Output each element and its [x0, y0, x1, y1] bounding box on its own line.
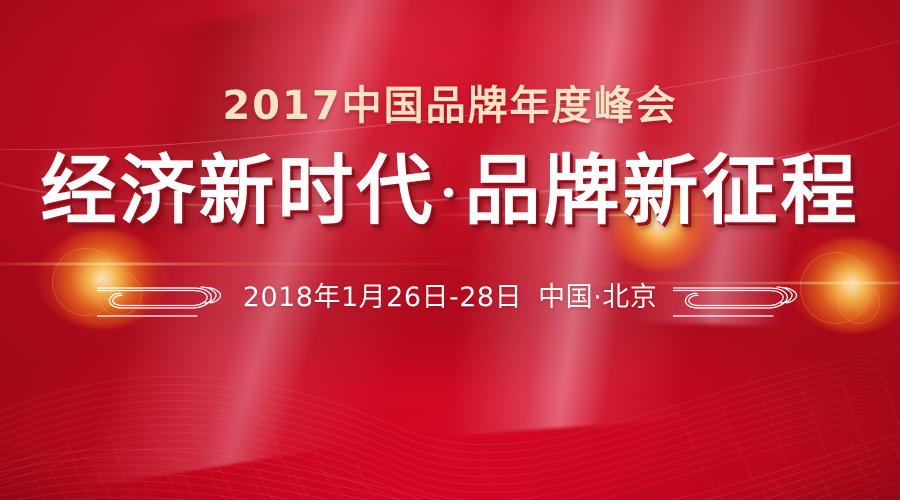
event-kicker-title: 2017中国品牌年度峰会	[222, 86, 677, 126]
event-date: 2018年1月26日-28日	[243, 275, 522, 314]
event-location: 中国·北京	[538, 275, 657, 314]
spiral-scroll-ornament-right	[673, 270, 803, 320]
headline-right-phrase: 品牌新征程	[465, 146, 860, 235]
headline-left-phrase: 经济新时代	[40, 146, 435, 235]
spiral-scroll-ornament-left	[97, 270, 227, 320]
date-location-line: 2018年1月26日-28日 中国·北京	[0, 270, 900, 320]
conference-banner-poster: 2017中国品牌年度峰会 经济新时代·品牌新征程 2018年1月26日-28	[0, 0, 900, 500]
headline-separator-dot: ·	[435, 163, 464, 224]
poster-content: 2017中国品牌年度峰会 经济新时代·品牌新征程 2018年1月26日-28	[0, 0, 900, 500]
main-headline: 经济新时代·品牌新征程	[40, 152, 859, 230]
